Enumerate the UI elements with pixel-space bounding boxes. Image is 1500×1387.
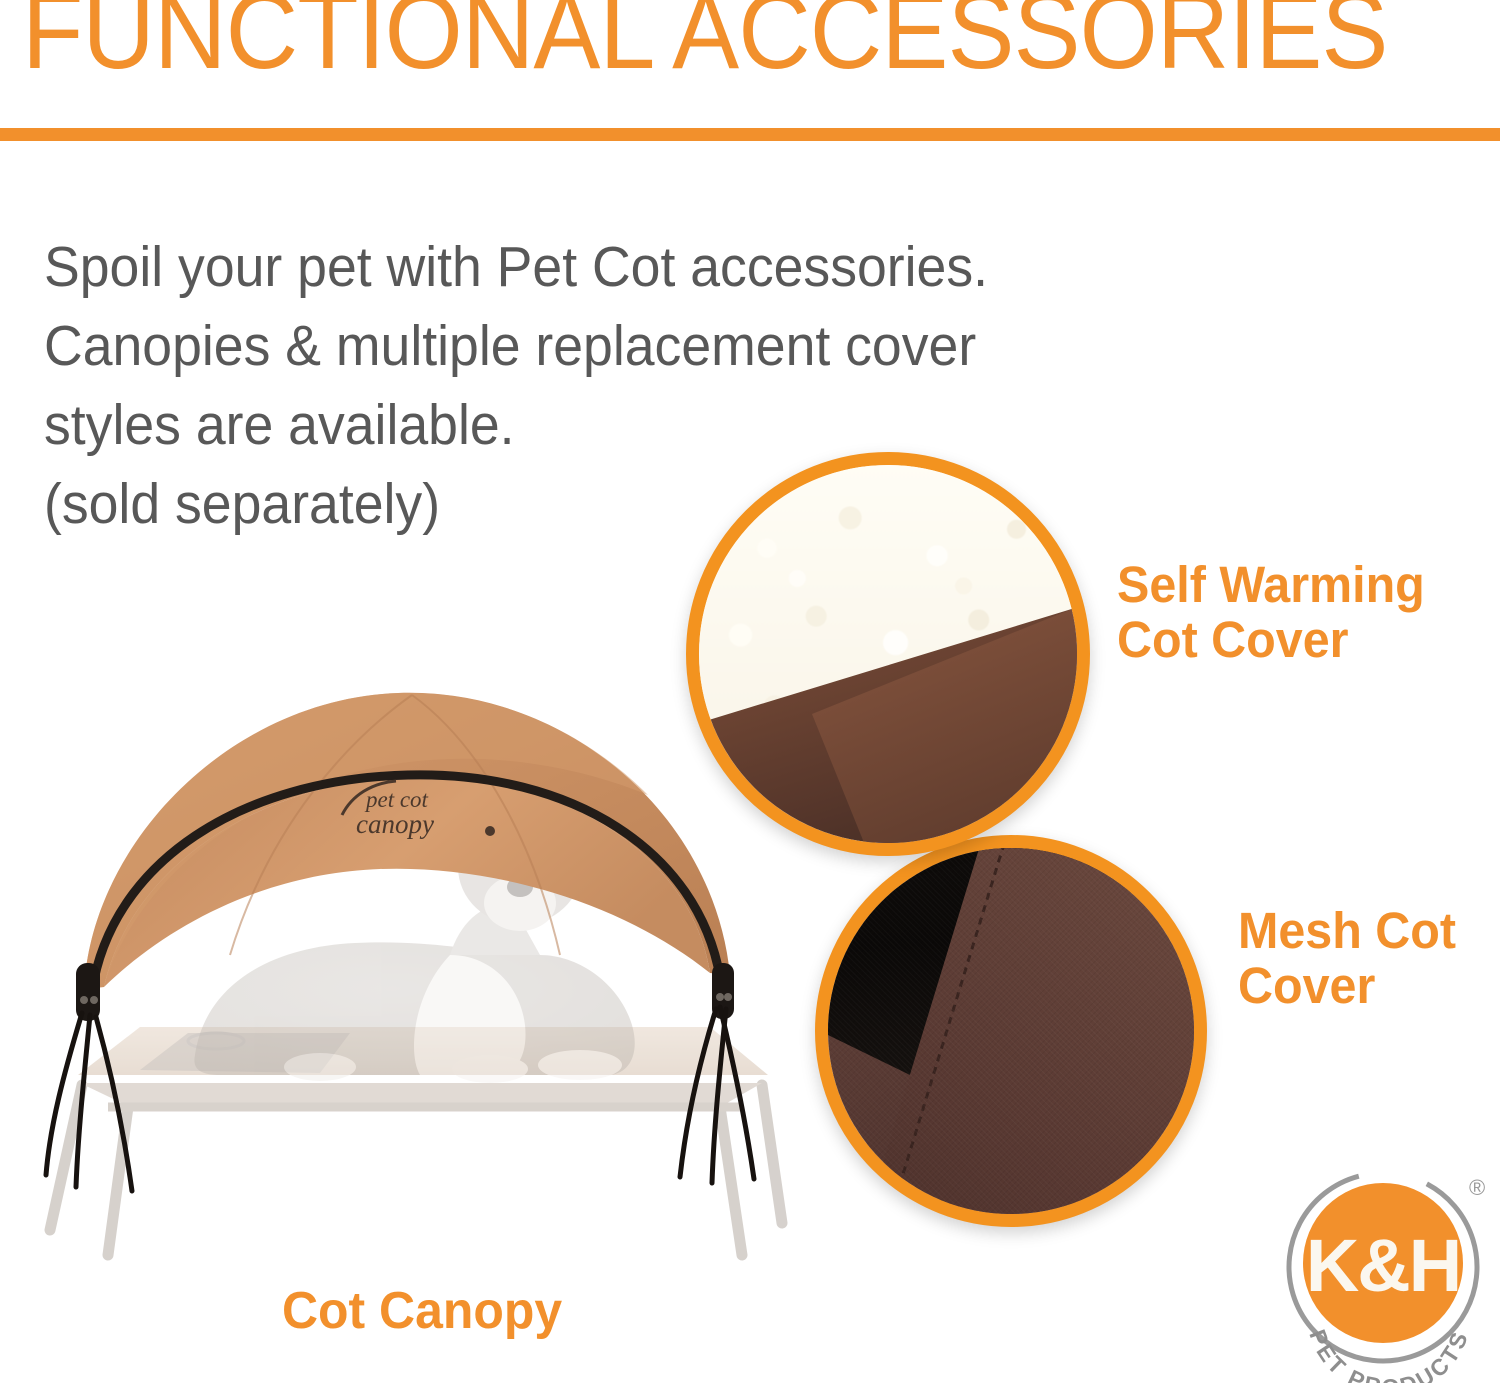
mesh-cover-photo [828, 848, 1194, 1214]
dog-paw-rear [284, 1053, 356, 1081]
inset-photo-mesh-cot-cover [815, 835, 1207, 1227]
cot-canopy-svg: pet cot canopy [20, 655, 810, 1295]
infographic-page: FUNCTIONAL ACCESSORIES Spoil your pet wi… [0, 0, 1500, 1387]
inset-photo-self-warming-cot-cover [686, 452, 1090, 856]
kh-pet-products-logo: K&H PET PRODUCTS ® [1283, 1163, 1495, 1383]
label-self-warming-line-1: Self Warming [1117, 557, 1425, 612]
label-mesh-line-1: Mesh Cot [1238, 903, 1456, 958]
self-warming-photo [699, 465, 1077, 843]
label-self-warming-cot-cover: Self Warming Cot Cover [1117, 557, 1425, 667]
logo-wordmark: K&H [1306, 1224, 1460, 1307]
fabric-weave-texture [828, 848, 1194, 1214]
intro-line-3: styles are available. [44, 386, 702, 465]
dog-paw-front-right [538, 1050, 622, 1080]
dog-paw-front-left [452, 1055, 528, 1083]
canopy-brand-trademark-dot [485, 826, 495, 836]
label-self-warming-line-2: Cot Cover [1117, 612, 1425, 667]
product-illustration-cot-canopy: pet cot canopy [20, 655, 810, 1295]
caption-cot-canopy: Cot Canopy [282, 1282, 562, 1340]
logo-svg: K&H PET PRODUCTS ® [1283, 1163, 1495, 1383]
page-title: FUNCTIONAL ACCESSORIES [22, 0, 1389, 90]
logo-registered-icon: ® [1469, 1175, 1485, 1200]
header-divider-rule [0, 128, 1500, 141]
canopy-assembly [46, 693, 754, 1191]
canopy-brand-line-2: canopy [356, 809, 434, 839]
intro-line-2: Canopies & multiple replacement cover [44, 307, 702, 386]
intro-line-4: (sold separately) [44, 465, 702, 544]
intro-line-1: Spoil your pet with Pet Cot accessories. [44, 228, 702, 307]
label-mesh-line-2: Cover [1238, 958, 1456, 1013]
intro-paragraph: Spoil your pet with Pet Cot accessories.… [44, 228, 702, 544]
label-mesh-cot-cover: Mesh Cot Cover [1238, 903, 1456, 1013]
